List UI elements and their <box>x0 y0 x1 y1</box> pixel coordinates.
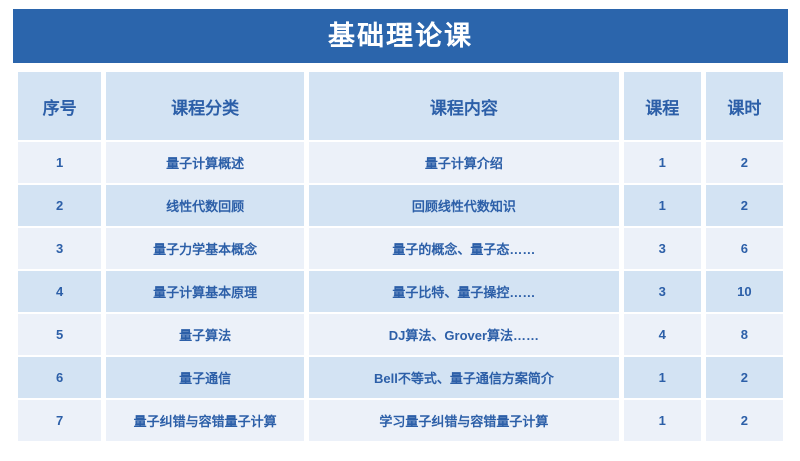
cell-content: 量子比特、量子操控…… <box>309 271 619 312</box>
column-header-hours: 课时 <box>706 72 783 140</box>
cell-courses: 1 <box>624 185 701 226</box>
cell-category: 量子计算概述 <box>106 142 304 183</box>
cell-seq: 2 <box>18 185 101 226</box>
cell-seq: 4 <box>18 271 101 312</box>
cell-category: 量子计算基本原理 <box>106 271 304 312</box>
cell-category: 量子通信 <box>106 357 304 398</box>
table-row: 7 量子纠错与容错量子计算 学习量子纠错与容错量子计算 1 2 <box>18 400 783 441</box>
cell-hours: 2 <box>706 357 783 398</box>
cell-seq: 3 <box>18 228 101 269</box>
table-body: 1 量子计算概述 量子计算介绍 1 2 2 线性代数回顾 回顾线性代数知识 1 … <box>18 142 783 441</box>
cell-hours: 2 <box>706 185 783 226</box>
cell-content: Bell不等式、量子通信方案简介 <box>309 357 619 398</box>
cell-category: 线性代数回顾 <box>106 185 304 226</box>
cell-seq: 7 <box>18 400 101 441</box>
column-header-category: 课程分类 <box>106 72 304 140</box>
cell-content: DJ算法、Grover算法…… <box>309 314 619 355</box>
cell-hours: 2 <box>706 400 783 441</box>
table-row: 5 量子算法 DJ算法、Grover算法…… 4 8 <box>18 314 783 355</box>
cell-hours: 8 <box>706 314 783 355</box>
cell-courses: 1 <box>624 400 701 441</box>
column-header-courses: 课程 <box>624 72 701 140</box>
cell-seq: 1 <box>18 142 101 183</box>
cell-seq: 6 <box>18 357 101 398</box>
cell-category: 量子力学基本概念 <box>106 228 304 269</box>
cell-content: 量子计算介绍 <box>309 142 619 183</box>
cell-courses: 4 <box>624 314 701 355</box>
table-row: 1 量子计算概述 量子计算介绍 1 2 <box>18 142 783 183</box>
slide-canvas: 基础理论课 序号 课程分类 课程内容 课程 课时 1 量子计算概述 量子计算介绍 <box>0 0 800 461</box>
slide-title-banner: 基础理论课 <box>13 9 788 63</box>
table-row: 4 量子计算基本原理 量子比特、量子操控…… 3 10 <box>18 271 783 312</box>
page-title: 基础理论课 <box>328 23 473 50</box>
cell-courses: 1 <box>624 357 701 398</box>
cell-category: 量子算法 <box>106 314 304 355</box>
cell-courses: 3 <box>624 271 701 312</box>
course-table: 序号 课程分类 课程内容 课程 课时 1 量子计算概述 量子计算介绍 1 2 2… <box>13 70 788 443</box>
cell-category: 量子纠错与容错量子计算 <box>106 400 304 441</box>
table-row: 2 线性代数回顾 回顾线性代数知识 1 2 <box>18 185 783 226</box>
table-header-row: 序号 课程分类 课程内容 课程 课时 <box>18 72 783 140</box>
cell-courses: 3 <box>624 228 701 269</box>
column-header-seq: 序号 <box>18 72 101 140</box>
cell-hours: 2 <box>706 142 783 183</box>
table-row: 6 量子通信 Bell不等式、量子通信方案简介 1 2 <box>18 357 783 398</box>
cell-courses: 1 <box>624 142 701 183</box>
cell-content: 学习量子纠错与容错量子计算 <box>309 400 619 441</box>
cell-content: 回顾线性代数知识 <box>309 185 619 226</box>
cell-content: 量子的概念、量子态…… <box>309 228 619 269</box>
cell-seq: 5 <box>18 314 101 355</box>
table-row: 3 量子力学基本概念 量子的概念、量子态…… 3 6 <box>18 228 783 269</box>
cell-hours: 10 <box>706 271 783 312</box>
column-header-content: 课程内容 <box>309 72 619 140</box>
cell-hours: 6 <box>706 228 783 269</box>
